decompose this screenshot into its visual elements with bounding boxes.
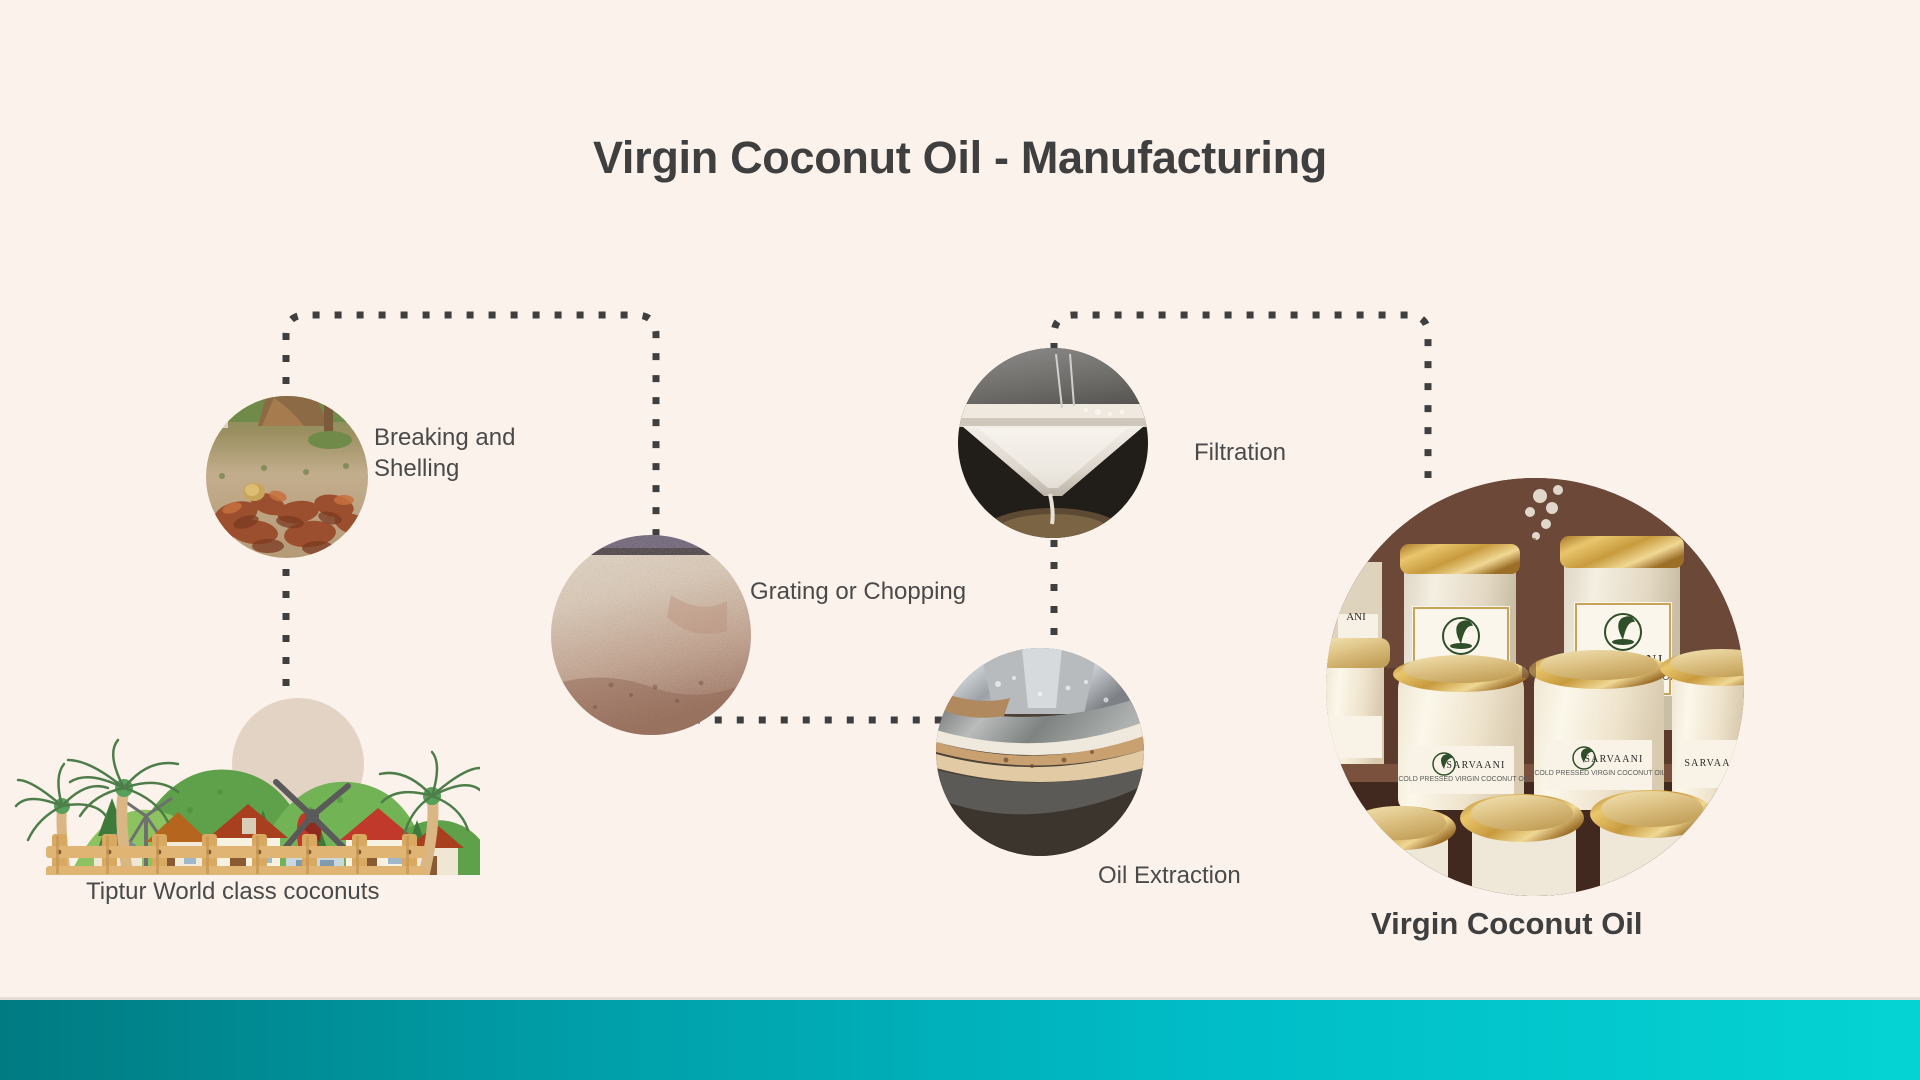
coconut-shells-photo [206, 396, 368, 558]
footer-teal-bar [0, 1000, 1920, 1080]
step-image-oil-extraction[interactable] [936, 648, 1144, 856]
svg-text:SARVAANI: SARVAANI [1684, 758, 1743, 769]
svg-text:ANI: ANI [1346, 611, 1366, 623]
page-title: Virgin Coconut Oil - Manufacturing [0, 132, 1920, 184]
coconut-oil-jars-photo: SARVAANI SARVAANI VIRGIN COCONUT OIL ANI [1326, 478, 1744, 896]
grated-coconut-photo [551, 535, 751, 735]
step-label-breaking-and-shelling: Breaking and Shelling [374, 423, 594, 484]
svg-text:SARVAANI: SARVAANI [1584, 754, 1643, 765]
oil-extraction-photo [936, 648, 1144, 856]
svg-text:SARVAANI: SARVAANI [1446, 760, 1505, 771]
slide-canvas: Virgin Coconut Oil - Manufacturing .dot{… [0, 0, 1920, 1080]
svg-text:COLD PRESSED VIRGIN COCONUT OI: COLD PRESSED VIRGIN COCONUT OIL [1534, 770, 1665, 777]
step-image-grating-or-chopping[interactable] [551, 535, 751, 735]
filtration-photo [958, 348, 1148, 538]
svg-text:COLD PRESSED VIRGIN COCONUT OI: COLD PRESSED VIRGIN COCONUT OIL [1398, 776, 1529, 783]
step-image-filtration[interactable] [958, 348, 1148, 538]
step-label-oil-extraction: Oil Extraction [1098, 861, 1318, 892]
product-image-virgin-coconut-oil[interactable]: SARVAANI SARVAANI VIRGIN COCONUT OIL ANI [1326, 478, 1744, 896]
source-caption: Tiptur World class coconuts [86, 877, 506, 908]
product-caption: Virgin Coconut Oil [1371, 906, 1643, 942]
step-image-breaking-and-shelling[interactable] [206, 396, 368, 558]
step-label-filtration: Filtration [1194, 438, 1394, 469]
step-label-grating-or-chopping: Grating or Chopping [750, 577, 1050, 608]
village-illustration [10, 660, 480, 875]
